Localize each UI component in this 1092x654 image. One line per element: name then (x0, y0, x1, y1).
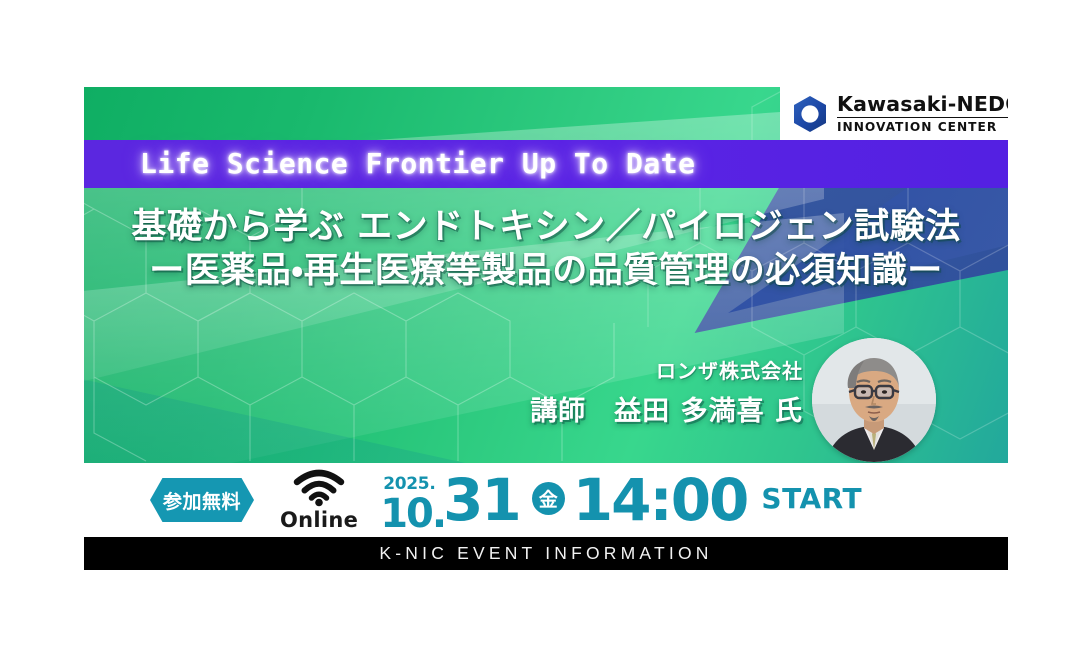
seminar-title: 基礎から学ぶ エンドトキシン／パイロジェン試験法 ー医薬品・再生医療等製品の品質… (84, 207, 1008, 293)
kawasaki-nedo-logo: Kawasaki-NEDO INNOVATION CENTER (780, 87, 1008, 140)
speaker-info: ロンザ株式会社 講師 益田 多満喜 氏 (530, 355, 803, 428)
series-title: Life Science Frontier Up To Date (140, 147, 695, 180)
speaker-portrait-image (812, 338, 936, 462)
logo-divider (837, 117, 1008, 119)
day-of-week-label: 金 (539, 485, 558, 512)
online-label: Online (280, 508, 358, 532)
seminar-title-line2: ー医薬品・再生医療等製品の品質管理の必須知識ー (84, 250, 1008, 293)
logo-title: Kawasaki-NEDO (837, 94, 1008, 115)
footer-bar: K-NIC EVENT INFORMATION (84, 537, 1008, 570)
wifi-icon (293, 469, 345, 507)
event-month: 10. (380, 494, 445, 534)
event-time: 14:00 (573, 471, 748, 529)
logo-subtitle: INNOVATION CENTER (837, 121, 1008, 133)
day-of-week-badge: 金 (532, 482, 565, 515)
series-banner: Life Science Frontier Up To Date (84, 140, 1008, 188)
speaker-name: 講師 益田 多満喜 氏 (530, 389, 803, 428)
free-admission-label: 参加無料 (163, 487, 241, 514)
free-admission-badge: 参加無料 (150, 478, 254, 522)
event-day: 31 (443, 466, 520, 534)
flyer-page: Kawasaki-NEDO INNOVATION CENTER Life Sci… (0, 0, 1092, 654)
flyer-artwork-background: Kawasaki-NEDO INNOVATION CENTER Life Sci… (84, 87, 1008, 463)
event-flyer: Kawasaki-NEDO INNOVATION CENTER Life Sci… (84, 87, 1008, 570)
start-label: START (761, 482, 862, 515)
hexagon-logo-icon (790, 94, 830, 134)
event-details-bar: 参加無料 Online 2025. 10. 31 (84, 463, 1008, 537)
footer-text: K-NIC EVENT INFORMATION (379, 543, 712, 564)
event-date: 2025. 10. 31 (380, 466, 520, 534)
speaker-organization: ロンザ株式会社 (530, 355, 803, 384)
speaker-portrait (812, 338, 936, 462)
seminar-title-line1: 基礎から学ぶ エンドトキシン／パイロジェン試験法 (84, 207, 1008, 248)
online-format: Online (280, 469, 358, 532)
